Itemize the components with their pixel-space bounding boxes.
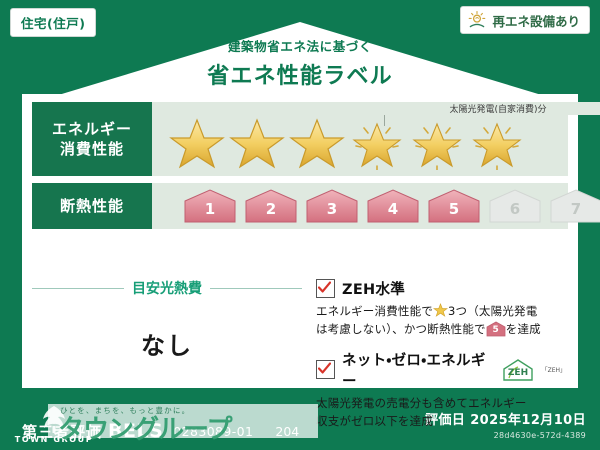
insulation-level-2-value: 2 [243, 200, 299, 218]
bels-identity: 第三者評価 BELS [22, 420, 163, 442]
energy-stars-area: 太陽光発電(自家消費)分 [152, 102, 568, 176]
bels-wordmark: BELS [108, 420, 163, 442]
zeh-logo-note: 「ZEH」 [542, 365, 566, 374]
house-badge-icon: 5 [486, 321, 506, 337]
criterion-zeh-standard: ZEH水準 エネルギー消費性能で3つ（太陽光発電は考慮しない）、かつ断熱性能で5… [316, 278, 566, 339]
zeh-text-part4: を達成 [506, 322, 541, 336]
star-solar-3 [468, 114, 526, 170]
lower-section: 目安光熱費 なし ZEH水準 エネルギー消費性能で3つ（太陽光発電は考慮しない）… [32, 272, 568, 382]
utility-cost-label: 目安光熱費 [132, 278, 202, 298]
star-filled-1 [168, 114, 226, 170]
sun-icon [467, 10, 487, 30]
insulation-level-2: 2 [243, 187, 299, 225]
utility-cost-panel: 目安光熱費 なし [32, 272, 302, 382]
criterion-nze-title: ネット・ゼロ・エネルギー [342, 349, 491, 391]
star-rating [152, 114, 526, 170]
insulation-level-1: 1 [182, 187, 238, 225]
criterion-nze-header: ネット・ゼロ・エネルギー ZEH 「ZEH」 [316, 349, 566, 391]
criterion-nze-description: 太陽光発電の売電分も含めてエネルギー収支がゼロ以下を達成 [316, 394, 566, 431]
criterion-zeh-title: ZEH水準 [342, 278, 405, 299]
star-solar-1 [348, 114, 406, 170]
insulation-level-1-value: 1 [182, 200, 238, 218]
energy-performance-label-cell: エネルギー 消費性能 [32, 102, 152, 176]
zeh-text-part1: エネルギー消費性能で [316, 304, 433, 318]
nze-text-line2: 収支がゼロ以下を達成 [316, 414, 433, 428]
insulation-level-7: 7 [548, 187, 600, 225]
bels-number: 0283089-01 [173, 424, 253, 439]
insulation-level-7-value: 7 [548, 200, 600, 218]
title-block: 建築物省エネ法に基づく 省エネ性能ラベル [0, 36, 600, 90]
insulation-level-6-value: 6 [487, 200, 543, 218]
zeh-text-part2: 3つ（太陽光発電 [448, 304, 537, 318]
energy-performance-row: エネルギー 消費性能 太陽光発電(自家消費)分 [32, 102, 568, 176]
star-icon [433, 303, 448, 318]
bels-block: 第三者評価 BELS 0283089-01 204 [22, 420, 299, 442]
insulation-performance-row: 断熱性能 1 2 3 [32, 183, 568, 229]
checkbox-zeh-standard[interactable] [316, 279, 335, 298]
insulation-performance-label-cell: 断熱性能 [32, 183, 152, 229]
third-party-label: 第三者評価 [22, 421, 102, 442]
insulation-level-scale: 1 2 3 4 5 [152, 187, 600, 225]
page-title: 省エネ性能ラベル [0, 58, 600, 90]
criterion-zeh-description: エネルギー消費性能で3つ（太陽光発電は考慮しない）、かつ断熱性能で5を達成 [316, 302, 566, 339]
insulation-levels-area: 1 2 3 4 5 [152, 183, 600, 229]
evaluation-id: 28d4630e-572d-4389 [425, 431, 586, 440]
insulation-level-4: 4 [365, 187, 421, 225]
nze-text-line1: 太陽光発電の売電分も含めてエネルギー [316, 396, 527, 410]
star-filled-2 [228, 114, 286, 170]
insulation-level-5: 5 [426, 187, 482, 225]
insulation-level-3: 3 [304, 187, 360, 225]
utility-cost-heading: 目安光熱費 [32, 278, 302, 298]
energy-performance-label: 住宅(住戸) 再エネ設備あり 建築物省エネ法に基づく 省エネ性能ラベル [0, 0, 600, 450]
zeh-text-part3: は考慮しない）、かつ断熱性能で [316, 322, 486, 336]
insulation-level-6: 6 [487, 187, 543, 225]
checkbox-net-zero-energy[interactable] [316, 360, 335, 379]
insulation-level-5-value: 5 [426, 200, 482, 218]
unit-number: 204 [275, 424, 299, 439]
title-subtitle: 建築物省エネ法に基づく [0, 36, 600, 55]
energy-label-line1: エネルギー [52, 119, 132, 139]
star-filled-3 [288, 114, 346, 170]
criterion-zeh-header: ZEH水準 [316, 278, 566, 299]
renewable-badge-label: 再エネ設備あり [492, 11, 580, 30]
utility-cost-value: なし [32, 326, 302, 361]
criterion-net-zero-energy: ネット・ゼロ・エネルギー ZEH 「ZEH」 太陽光発電の売電分も含めてエネルギ… [316, 349, 566, 431]
house-badge-value: 5 [486, 323, 506, 337]
building-type-tag: 住宅(住戸) [10, 8, 96, 37]
energy-label-line2: 消費性能 [60, 139, 124, 159]
insulation-level-4-value: 4 [365, 200, 421, 218]
star-solar-2 [408, 114, 466, 170]
insulation-label: 断熱性能 [60, 196, 124, 216]
criteria-panel: ZEH水準 エネルギー消費性能で3つ（太陽光発電は考慮しない）、かつ断熱性能で5… [302, 272, 568, 382]
label-card: エネルギー 消費性能 太陽光発電(自家消費)分 [22, 94, 578, 388]
zeh-logo-icon: ZEH [500, 358, 534, 382]
renewable-energy-badge: 再エネ設備あり [460, 6, 590, 34]
insulation-level-3-value: 3 [304, 200, 360, 218]
svg-text:ZEH: ZEH [508, 368, 528, 378]
